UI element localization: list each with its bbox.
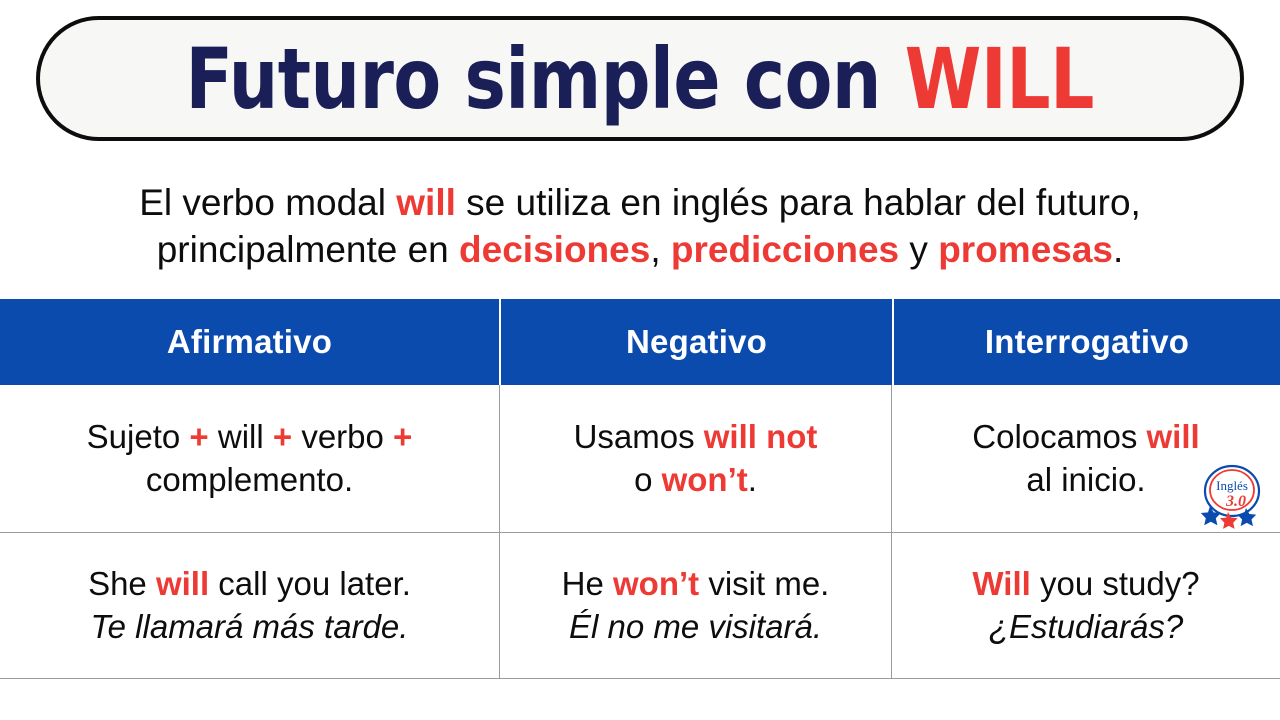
ex-aff-text-a: She bbox=[88, 565, 156, 602]
rule-aff-text-c: verbo bbox=[292, 418, 393, 455]
rule-neg-text-c: . bbox=[748, 461, 757, 498]
logo-version-text: 3.0 bbox=[1225, 493, 1246, 510]
rule-int-keyword-will: will bbox=[1147, 418, 1200, 455]
example-interrogative-english: Will you study? bbox=[972, 563, 1199, 605]
ex-neg-keyword-wont: won’t bbox=[613, 565, 699, 602]
rule-interrogative-line-1: Colocamos will bbox=[972, 416, 1199, 458]
rule-negative-line-2: o won’t. bbox=[634, 459, 757, 501]
ex-int-keyword-will: Will bbox=[972, 565, 1030, 602]
subtitle-keyword-decisiones: decisiones bbox=[459, 229, 650, 270]
rule-aff-text-a: Sujeto bbox=[87, 418, 190, 455]
ex-neg-text-a: He bbox=[562, 565, 613, 602]
cell-example-interrogative: Will you study? ¿Estudiarás? bbox=[892, 533, 1280, 678]
subtitle-line-1: El verbo modal will se utiliza en inglés… bbox=[70, 180, 1210, 227]
subtitle-keyword-will: will bbox=[396, 182, 456, 223]
rule-neg-keyword-will-not: will not bbox=[704, 418, 818, 455]
rule-aff-plus-1: + bbox=[189, 418, 208, 455]
table-header-row: Afirmativo Negativo Interrogativo bbox=[0, 299, 1280, 385]
rule-aff-text-b: will bbox=[209, 418, 273, 455]
subtitle-text-1a: El verbo modal bbox=[139, 182, 396, 223]
subtitle-line-2: principalmente en decisiones, prediccion… bbox=[70, 227, 1210, 274]
example-affirmative-spanish: Te llamará más tarde. bbox=[91, 606, 409, 648]
subtitle-paragraph: El verbo modal will se utiliza en inglés… bbox=[0, 180, 1280, 274]
subtitle-sep-1: , bbox=[650, 229, 671, 270]
title-banner: Futuro simple con WILL bbox=[36, 16, 1244, 141]
example-negative-spanish: Él no me visitará. bbox=[569, 606, 822, 648]
table-header-afirmativo: Afirmativo bbox=[0, 299, 499, 385]
rule-affirmative-line-2: complemento. bbox=[146, 459, 353, 501]
rule-int-text-a: Colocamos bbox=[972, 418, 1146, 455]
logo-name-text: Inglés bbox=[1216, 478, 1248, 493]
page-title: Futuro simple con WILL bbox=[186, 37, 1095, 121]
forms-table: Afirmativo Negativo Interrogativo Sujeto… bbox=[0, 299, 1280, 679]
subtitle-text-2a: principalmente en bbox=[157, 229, 459, 270]
title-accent-text: WILL bbox=[905, 30, 1094, 128]
subtitle-keyword-promesas: promesas bbox=[938, 229, 1113, 270]
cell-rule-interrogative: Colocamos will al inicio. Inglés 3.0 bbox=[892, 385, 1280, 532]
ex-int-text-b: you study? bbox=[1031, 565, 1200, 602]
ex-aff-text-b: call you later. bbox=[209, 565, 411, 602]
cell-rule-negative: Usamos will not o won’t. bbox=[500, 385, 892, 532]
rule-aff-plus-3: + bbox=[393, 418, 412, 455]
rule-neg-text-b: o bbox=[634, 461, 662, 498]
subtitle-text-2b: . bbox=[1113, 229, 1123, 270]
rule-aff-plus-2: + bbox=[273, 418, 292, 455]
subtitle-keyword-predicciones: predicciones bbox=[671, 229, 899, 270]
cell-example-negative: He won’t visit me. Él no me visitará. bbox=[500, 533, 892, 678]
ex-neg-text-b: visit me. bbox=[699, 565, 829, 602]
subtitle-text-1b: se utiliza en inglés para hablar del fut… bbox=[456, 182, 1141, 223]
example-negative-english: He won’t visit me. bbox=[562, 563, 830, 605]
table-row-rules: Sujeto + will + verbo + complemento. Usa… bbox=[0, 385, 1280, 533]
slide-root: Futuro simple con WILL El verbo modal wi… bbox=[0, 0, 1280, 720]
example-affirmative-english: She will call you later. bbox=[88, 563, 411, 605]
cell-rule-affirmative: Sujeto + will + verbo + complemento. bbox=[0, 385, 500, 532]
rule-neg-text-a: Usamos bbox=[574, 418, 704, 455]
rule-neg-keyword-wont: won’t bbox=[662, 461, 748, 498]
table-row-examples: She will call you later. Te llamará más … bbox=[0, 533, 1280, 679]
example-interrogative-spanish: ¿Estudiarás? bbox=[989, 606, 1183, 648]
rule-affirmative-line-1: Sujeto + will + verbo + bbox=[87, 416, 413, 458]
rule-interrogative-line-2: al inicio. bbox=[1026, 459, 1145, 501]
table-header-negativo: Negativo bbox=[501, 299, 892, 385]
subtitle-sep-2: y bbox=[899, 229, 938, 270]
table-header-interrogativo: Interrogativo bbox=[894, 299, 1280, 385]
ingles-3-0-logo: Inglés 3.0 bbox=[1192, 460, 1270, 530]
cell-example-affirmative: She will call you later. Te llamará más … bbox=[0, 533, 500, 678]
ex-aff-keyword-will: will bbox=[156, 565, 209, 602]
title-main-text: Futuro simple con bbox=[186, 30, 905, 128]
rule-negative-line-1: Usamos will not bbox=[574, 416, 818, 458]
